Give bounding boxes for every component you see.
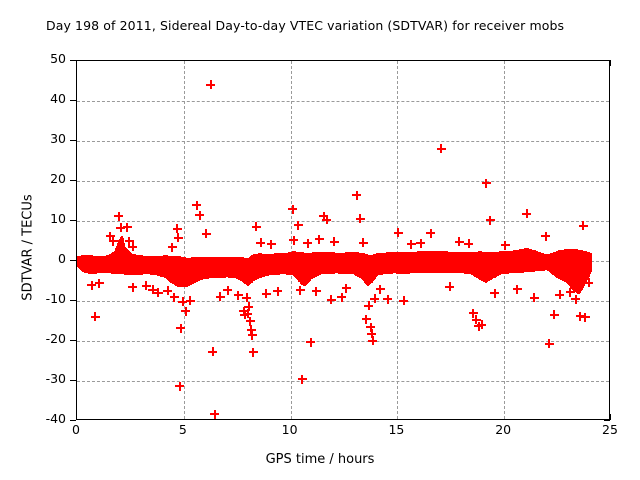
gridline-vertical [291,61,292,419]
gridline-horizontal [77,221,609,222]
data-point-marker [383,295,392,304]
gridline-vertical [504,61,505,419]
data-point-marker [477,320,486,329]
y-tick-label: -20 [46,333,66,345]
chart-title: Day 198 of 2011, Sidereal Day-to-day VTE… [46,18,564,33]
data-point-marker [154,288,163,297]
data-point-marker [298,375,307,384]
y-tick-label: 20 [50,173,66,185]
data-point-marker [267,240,276,249]
data-point-marker [173,224,182,233]
data-point-marker [522,209,531,218]
gridline-horizontal [77,341,609,342]
data-point-marker [262,289,271,298]
x-tick-mark-top [610,60,611,66]
data-point-marker [223,286,232,295]
data-point-marker [240,310,249,319]
data-point-marker [192,201,201,210]
x-tick-label: 10 [282,424,298,436]
data-point-marker [243,309,252,318]
data-point-marker [315,235,324,244]
data-point-marker [342,284,351,293]
data-point-marker [252,222,261,231]
data-point-marker [95,279,104,288]
plot-area [76,60,610,420]
data-point-marker [239,307,248,316]
x-tick-label: 5 [179,424,187,436]
data-point-marker [501,241,510,250]
data-point-marker [555,290,564,299]
y-tick-mark [70,420,76,421]
gridline-horizontal [77,301,609,302]
data-point-marker [581,313,590,322]
data-point-marker [445,282,454,291]
data-point-marker [114,212,123,221]
data-point-marker [168,243,177,252]
data-point-marker [249,348,258,357]
data-point-marker [247,325,256,334]
data-point-marker [330,237,339,246]
x-tick-label: 20 [495,424,511,436]
y-tick-label: -30 [46,373,66,385]
y-tick-label: 30 [50,133,66,145]
data-point-marker [394,228,403,237]
x-tick-label: 15 [388,424,404,436]
data-point-marker [416,239,425,248]
gridline-vertical [184,61,185,419]
data-point-marker [294,221,303,230]
data-point-marker [319,212,328,221]
x-tick-label: 0 [72,424,80,436]
data-point-marker [208,347,217,356]
gridline-vertical [397,61,398,419]
data-point-marker [216,292,225,301]
x-tick-mark [610,414,611,420]
data-point-marker [472,315,481,324]
data-point-marker [437,144,446,153]
chart-root: Day 198 of 2011, Sidereal Day-to-day VTE… [0,0,640,480]
data-point-marker [469,309,478,318]
data-point-marker [576,312,585,321]
data-point-marker [550,310,559,319]
data-point-marker [175,382,184,391]
data-point-marker [195,211,204,220]
data-point-marker [142,281,151,290]
data-point-marker [426,229,435,238]
gridline-horizontal [77,381,609,382]
data-point-marker [163,286,172,295]
y-tick-label: -10 [46,293,66,305]
data-point-marker [248,331,257,340]
data-point-marker [123,223,132,232]
y-tick-label: 40 [50,93,66,105]
data-point-marker [116,223,125,232]
data-point-marker [210,410,219,419]
gridline-horizontal [77,181,609,182]
y-tick-mark-right [604,420,610,421]
y-axis-title: SDTVAR / TECUs [21,158,36,338]
gridline-horizontal [77,141,609,142]
data-point-marker [288,205,297,214]
data-point-marker [206,80,215,89]
data-point-marker [303,239,312,248]
data-point-marker [306,338,315,347]
data-point-marker [352,191,361,200]
data-point-marker [571,295,580,304]
data-point-marker [541,232,550,241]
y-tick-label: 10 [50,213,66,225]
data-point-marker [273,287,282,296]
y-tick-label: -40 [46,413,66,425]
data-point-marker [91,312,100,321]
data-point-marker [362,315,371,324]
data-point-marker [327,295,336,304]
data-point-marker [174,233,183,242]
data-point-marker [364,301,373,310]
x-axis-title: GPS time / hours [0,452,640,467]
data-point-marker [359,238,368,247]
data-point-marker [366,323,375,332]
data-point-marker [367,329,376,338]
data-band-segment [589,253,591,272]
y-tick-label: 0 [58,253,66,265]
data-point-marker [464,239,473,248]
x-tick-label: 25 [602,424,618,436]
data-point-marker [455,237,464,246]
data-point-marker [474,322,483,331]
data-point-marker [128,242,137,251]
data-point-marker [181,307,190,316]
data-point-marker [579,221,588,230]
data-point-marker [376,285,385,294]
data-point-marker [148,285,157,294]
data-point-marker [87,281,96,290]
data-point-marker [513,285,522,294]
data-point-marker [202,229,211,238]
data-point-marker [407,240,416,249]
data-point-marker [322,215,331,224]
data-point-marker [490,289,499,298]
data-point-marker [125,237,134,246]
y-tick-label: 50 [50,53,66,65]
data-point-marker [106,232,115,241]
gridline-horizontal [77,101,609,102]
data-point-marker [234,291,243,300]
data-point-marker [256,238,265,247]
data-point-marker [244,302,253,311]
data-point-marker [246,317,255,326]
data-point-marker [128,283,137,292]
data-point-marker [296,286,305,295]
data-point-marker [312,287,321,296]
